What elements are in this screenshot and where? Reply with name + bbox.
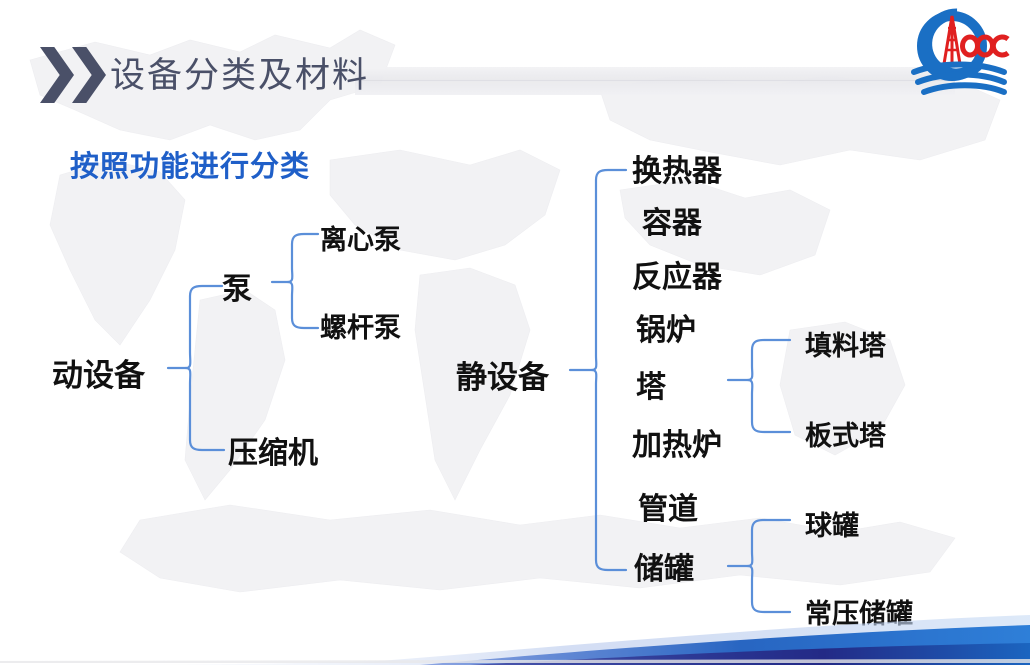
section-subtitle: 按照功能进行分类 <box>70 147 310 187</box>
cnooc-logo <box>900 6 1018 98</box>
node-static-piping: 管道 <box>638 484 698 528</box>
node-tower-tray: 板式塔 <box>805 414 886 453</box>
node-tank-atmospheric: 常压储罐 <box>805 592 913 631</box>
node-static-heating-furnace: 加热炉 <box>632 420 722 464</box>
node-dynamic-root: 动设备 <box>52 350 145 395</box>
node-tower-packed: 填料塔 <box>805 324 886 363</box>
chevron-icon-first <box>40 47 74 103</box>
node-static-tower: 塔 <box>636 362 666 406</box>
node-static-vessel: 容器 <box>642 198 702 242</box>
node-dynamic-compressor: 压缩机 <box>228 428 318 472</box>
node-static-storage-tank: 储罐 <box>634 544 694 588</box>
node-static-reactor: 反应器 <box>632 252 722 296</box>
node-static-root: 静设备 <box>456 352 549 397</box>
node-static-heat-exchanger: 换热器 <box>632 146 722 190</box>
title-underline-band <box>355 67 955 95</box>
double-chevron-icon <box>40 47 114 103</box>
node-pump-centrifugal: 离心泵 <box>320 218 401 257</box>
page-title: 设备分类及材料 <box>110 50 369 102</box>
chevron-icon-second <box>72 47 106 103</box>
node-dynamic-pump: 泵 <box>222 264 252 308</box>
node-pump-screw: 螺杆泵 <box>320 306 401 345</box>
node-tank-spherical: 球罐 <box>805 504 859 543</box>
node-static-boiler: 锅炉 <box>636 305 696 349</box>
slide-canvas: 设备分类及材料 按照功能进行分类 <box>0 0 1030 665</box>
